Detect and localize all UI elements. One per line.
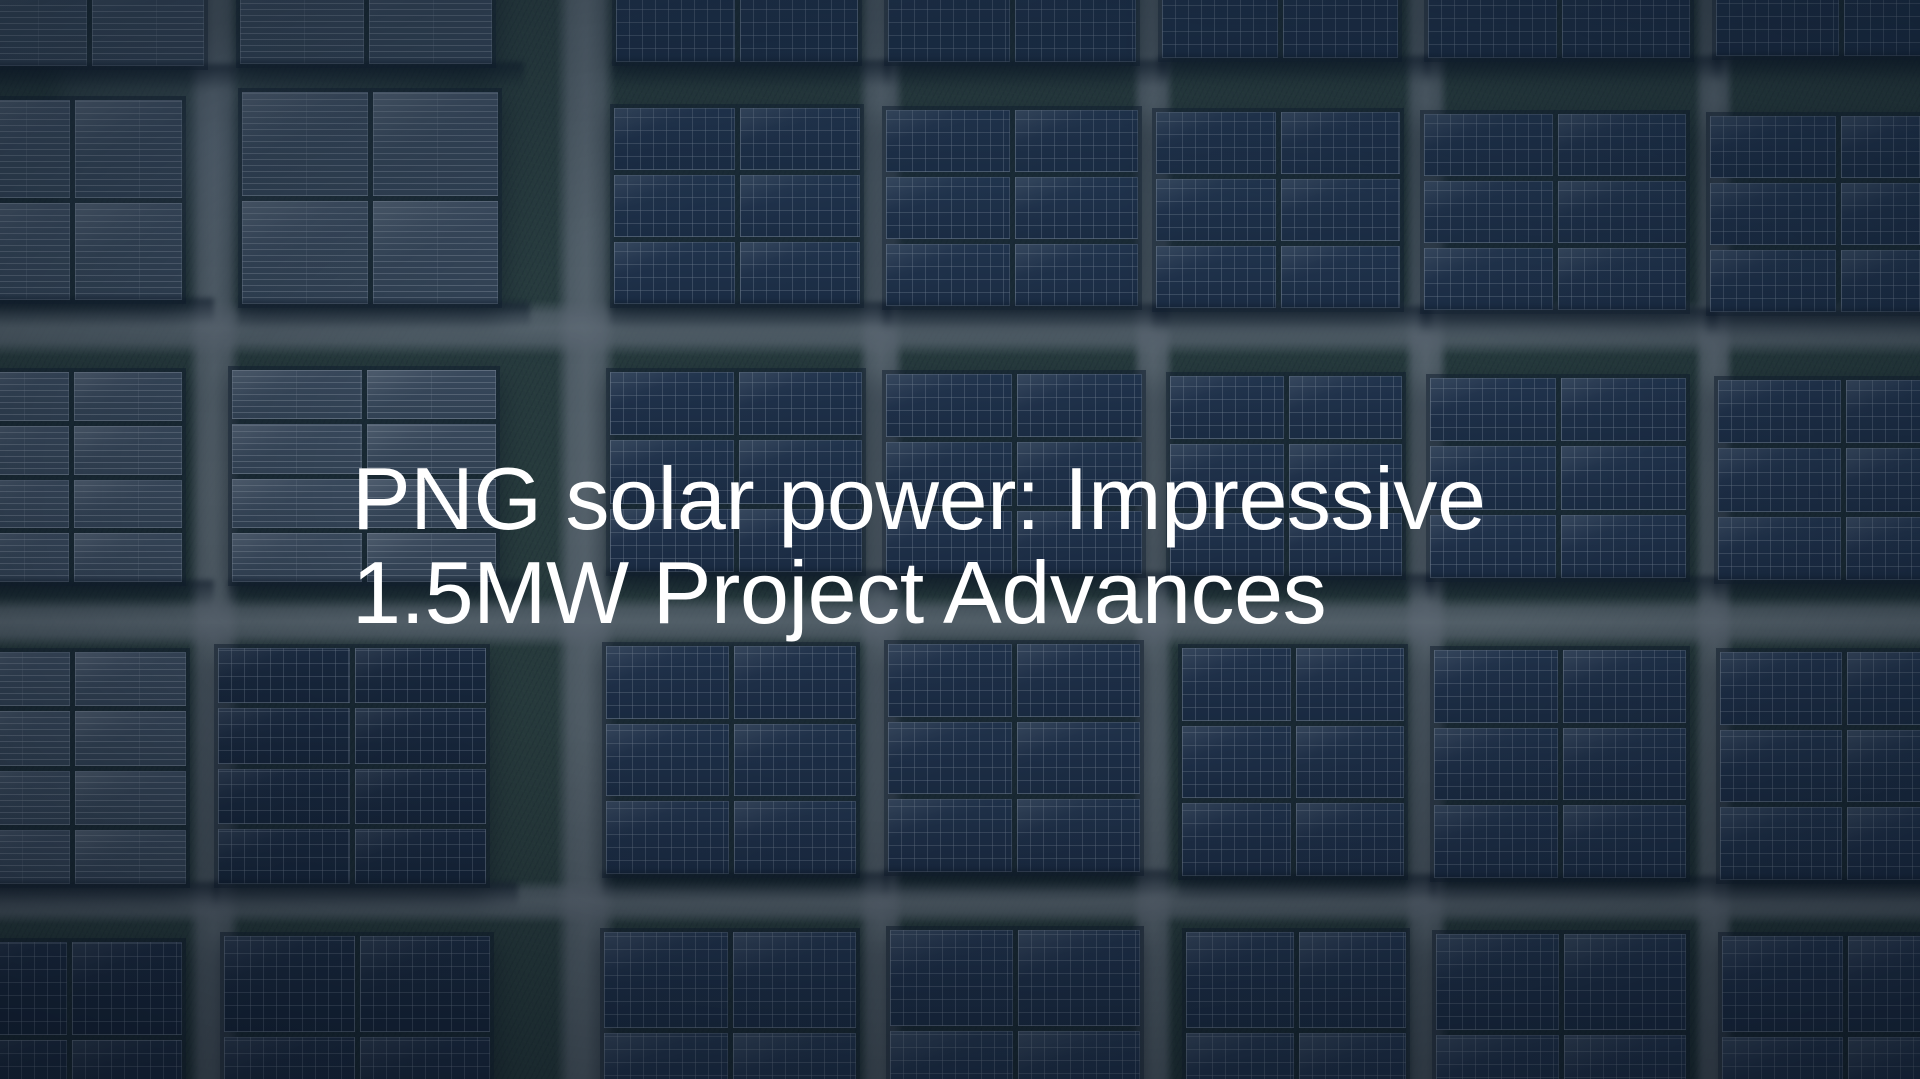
panel-array-r5c2 (220, 932, 494, 1079)
panel-array-r4c4 (884, 640, 1144, 876)
panel-array-r3c7 (1714, 376, 1920, 584)
panel-array-r4c2 (214, 644, 490, 888)
panel-array-r5c7 (1718, 932, 1920, 1079)
panel-array-r1c6 (1424, 0, 1694, 62)
panel-array-r5c1 (0, 938, 186, 1079)
panel-array-r2c7 (1706, 112, 1920, 316)
headline-line-1: PNG solar power: Impressive (352, 452, 1552, 546)
panel-array-r1c7 (1712, 0, 1920, 60)
panel-array-r2c6 (1420, 110, 1690, 314)
page-title: PNG solar power: Impressive 1.5MW Projec… (352, 452, 1552, 640)
panel-array-r4c6 (1430, 646, 1690, 882)
panel-array-r2c3 (610, 104, 864, 308)
panel-array-r1c4 (884, 0, 1140, 66)
panel-array-r4c7 (1716, 648, 1920, 884)
panel-array-r2c4 (882, 106, 1142, 310)
panel-array-r5c6 (1432, 930, 1690, 1079)
panel-array-r5c5 (1182, 928, 1410, 1079)
hero-banner: PNG solar power: Impressive 1.5MW Projec… (0, 0, 1920, 1079)
panel-array-r2c1 (0, 96, 186, 304)
panel-array-r5c4 (886, 926, 1144, 1079)
panel-array-r1c2 (236, 0, 496, 68)
panel-array-r4c1 (0, 648, 190, 888)
panel-array-r5c3 (600, 928, 860, 1079)
panel-array-r1c5 (1158, 0, 1402, 62)
panel-array-r4c3 (602, 642, 860, 878)
panel-array-r1c3 (612, 0, 862, 66)
headline-line-2: 1.5MW Project Advances (352, 546, 1552, 640)
panel-array-r3c1 (0, 368, 186, 586)
panel-array-r1c1 (0, 0, 208, 70)
panel-array-r2c2 (238, 88, 502, 308)
panel-array-r4c5 (1178, 644, 1408, 880)
panel-array-r2c5 (1152, 108, 1404, 312)
